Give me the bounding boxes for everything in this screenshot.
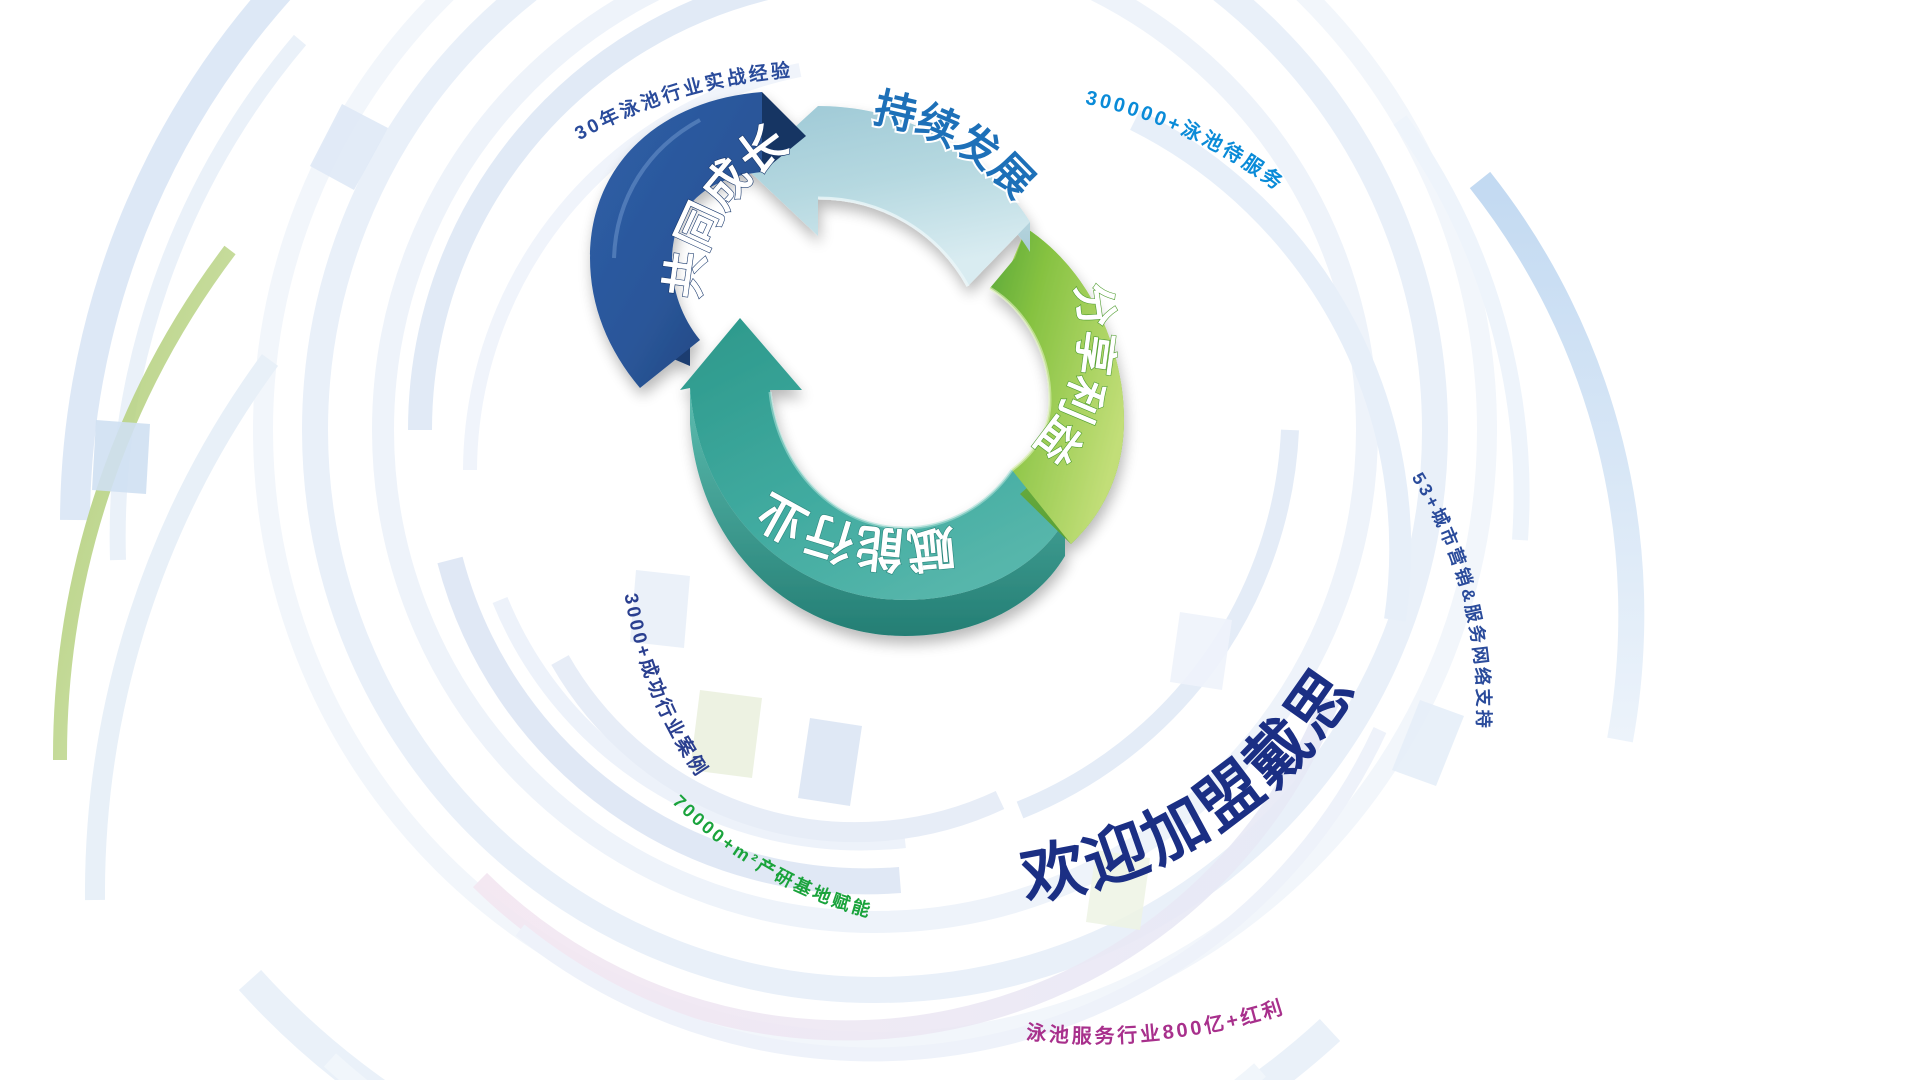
headline-join: 欢迎加盟戴思乐	[0, 0, 1370, 914]
arc-label-pools-text: 300000+泳池待服务	[1084, 87, 1290, 196]
arc-label-cities: 53+城市营销&服务网络支持	[1408, 469, 1495, 731]
arc-label-cases: 3000+成功行业案例	[620, 592, 714, 782]
arc-label-market: 泳池服务行业800亿+红利	[1025, 995, 1288, 1048]
infographic-canvas: 共同成长 持续发展 分享利益 赋能行业 30年泳池行业实战经验	[0, 0, 1920, 1080]
arc-label-experience-text: 30年泳池行业实战经验	[572, 58, 794, 144]
arc-label-experience: 30年泳池行业实战经验	[572, 58, 794, 144]
arc-label-base: 70000+m²产研基地赋能	[669, 791, 875, 921]
arc-label-base-text: 70000+m²产研基地赋能	[669, 791, 875, 921]
arc-label-market-text: 泳池服务行业800亿+红利	[1025, 995, 1288, 1048]
headline-join-text: 欢迎加盟戴思乐	[0, 0, 1370, 914]
arc-label-cities-text: 53+城市营销&服务网络支持	[1408, 469, 1495, 731]
arc-label-layer: 30年泳池行业实战经验 300000+泳池待服务 53+城市营销&服务网络支持 …	[0, 0, 1920, 1080]
arc-label-pools: 300000+泳池待服务	[1084, 87, 1290, 196]
arc-label-cases-text: 3000+成功行业案例	[620, 592, 714, 782]
